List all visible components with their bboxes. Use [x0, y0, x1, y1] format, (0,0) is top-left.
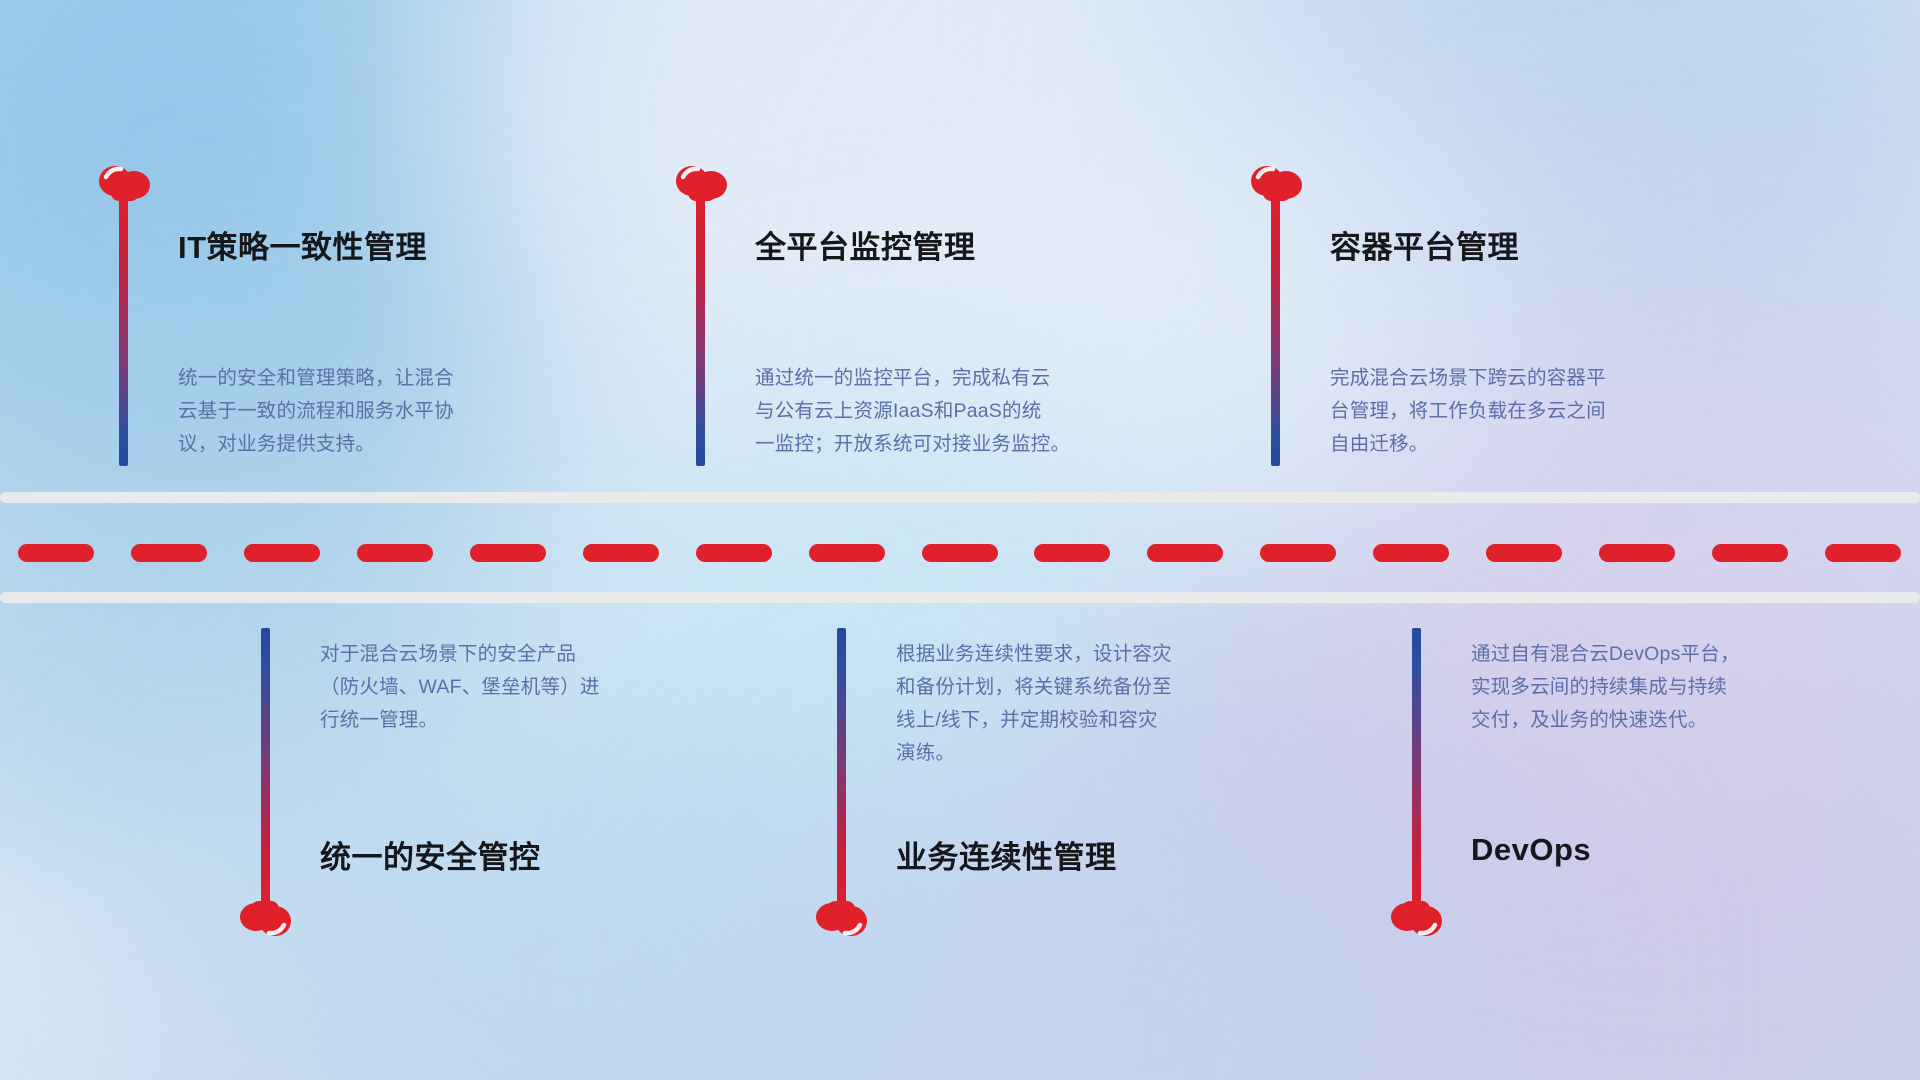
connector-pole	[837, 628, 846, 906]
road-dash	[1034, 544, 1110, 562]
card-body: 通过自有混合云DevOps平台， 实现多云间的持续集成与持续 交付，及业务的快速…	[1471, 638, 1740, 737]
road-dash	[1260, 544, 1336, 562]
card-body: 根据业务连续性要求，设计容灾 和备份计划，将关键系统备份至 线上/线下，并定期校…	[896, 638, 1172, 770]
connector-pole	[1271, 196, 1280, 466]
road-dash	[470, 544, 546, 562]
road-edge-line-bottom	[0, 592, 1920, 603]
card-body: 完成混合云场景下跨云的容器平 台管理，将工作负载在多云之间 自由迁移。	[1330, 362, 1606, 461]
road-dash	[18, 544, 94, 562]
connector-pole	[696, 196, 705, 466]
road-dash	[1486, 544, 1562, 562]
road-dash	[131, 544, 207, 562]
road-dash	[357, 544, 433, 562]
road-dash	[1147, 544, 1223, 562]
cloud-icon	[811, 896, 873, 942]
infographic-canvas: IT策略一致性管理 统一的安全和管理策略，让混合 云基于一致的流程和服务水平协 …	[0, 0, 1920, 1080]
cloud-icon	[235, 896, 297, 942]
road-dash	[809, 544, 885, 562]
card-body: 对于混合云场景下的安全产品 （防火墙、WAF、堡垒机等）进 行统一管理。	[320, 638, 600, 737]
road-dash	[244, 544, 320, 562]
road-center-dashes	[0, 544, 1920, 562]
road-dash	[696, 544, 772, 562]
card-title: 业务连续性管理	[896, 832, 1117, 877]
card-title: DevOps	[1471, 832, 1591, 868]
card-title: 统一的安全管控	[320, 832, 541, 877]
road-dash	[922, 544, 998, 562]
road-dash	[583, 544, 659, 562]
card-title: 容器平台管理	[1330, 222, 1519, 267]
card-title: IT策略一致性管理	[178, 222, 427, 267]
connector-pole	[1412, 628, 1421, 906]
road-dash	[1373, 544, 1449, 562]
connector-pole	[119, 196, 128, 466]
card-title: 全平台监控管理	[755, 222, 976, 267]
card-body: 统一的安全和管理策略，让混合 云基于一致的流程和服务水平协 议，对业务提供支持。	[178, 362, 454, 461]
cloud-icon	[1386, 896, 1448, 942]
connector-pole	[261, 628, 270, 906]
road-dash	[1825, 544, 1901, 562]
card-body: 通过统一的监控平台，完成私有云 与公有云上资源IaaS和PaaS的统 一监控；开…	[755, 362, 1070, 461]
road-dash	[1712, 544, 1788, 562]
road-edge-line-top	[0, 492, 1920, 503]
road-dash	[1599, 544, 1675, 562]
